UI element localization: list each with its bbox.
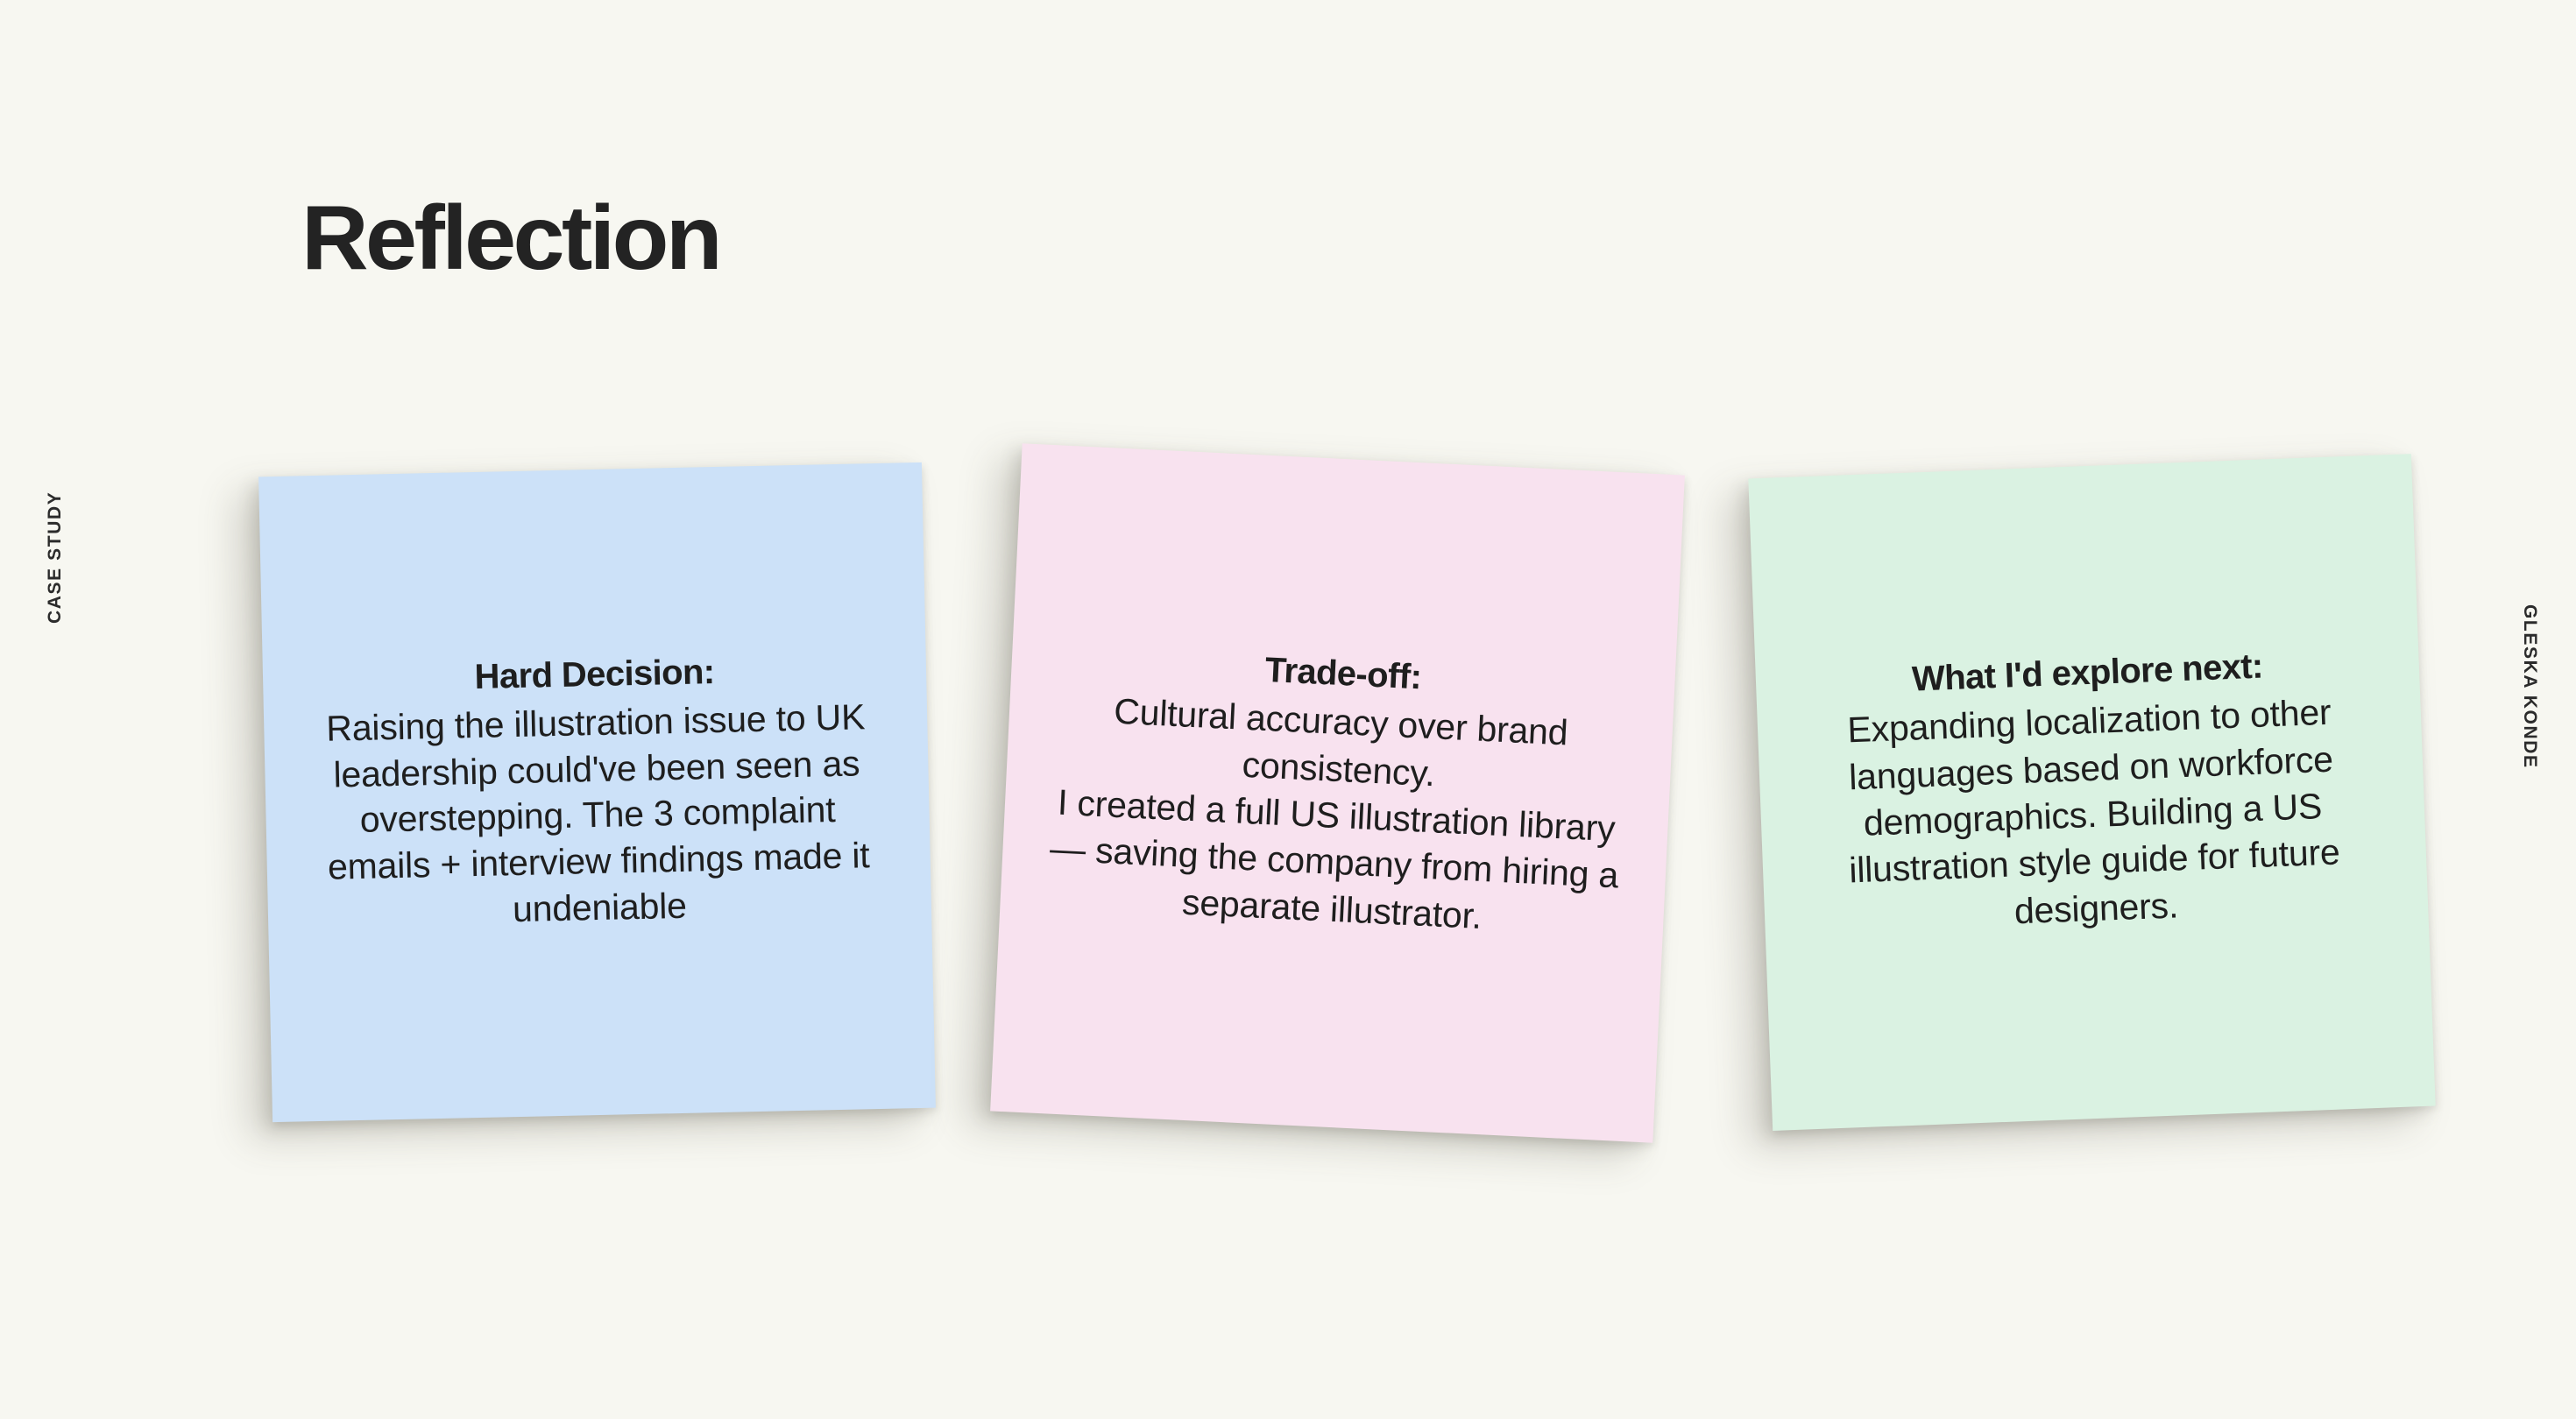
sticky-note-body: Cultural accuracy over brand consistency…	[1040, 686, 1633, 947]
sticky-notes-group: Hard Decision: Raising the illustration …	[0, 0, 2576, 1419]
sticky-note-heading: Trade-off:	[1264, 650, 1422, 699]
sticky-note-trade-off[interactable]: Trade-off: Cultural accuracy over brand …	[990, 443, 1685, 1142]
sticky-note-body: Expanding localization to other language…	[1797, 688, 2388, 942]
sticky-note-heading: Hard Decision:	[474, 652, 715, 698]
sticky-note-hard-decision[interactable]: Hard Decision: Raising the illustration …	[258, 462, 936, 1122]
slide-root: Reflection CASE STUDY GLESKA KONDE Hard …	[0, 0, 2576, 1419]
sticky-note-heading: What I'd explore next:	[1911, 646, 2263, 701]
sticky-note-explore-next[interactable]: What I'd explore next: Expanding localiz…	[1748, 454, 2435, 1131]
sticky-note-body: Raising the illustration issue to UK lea…	[304, 694, 892, 937]
